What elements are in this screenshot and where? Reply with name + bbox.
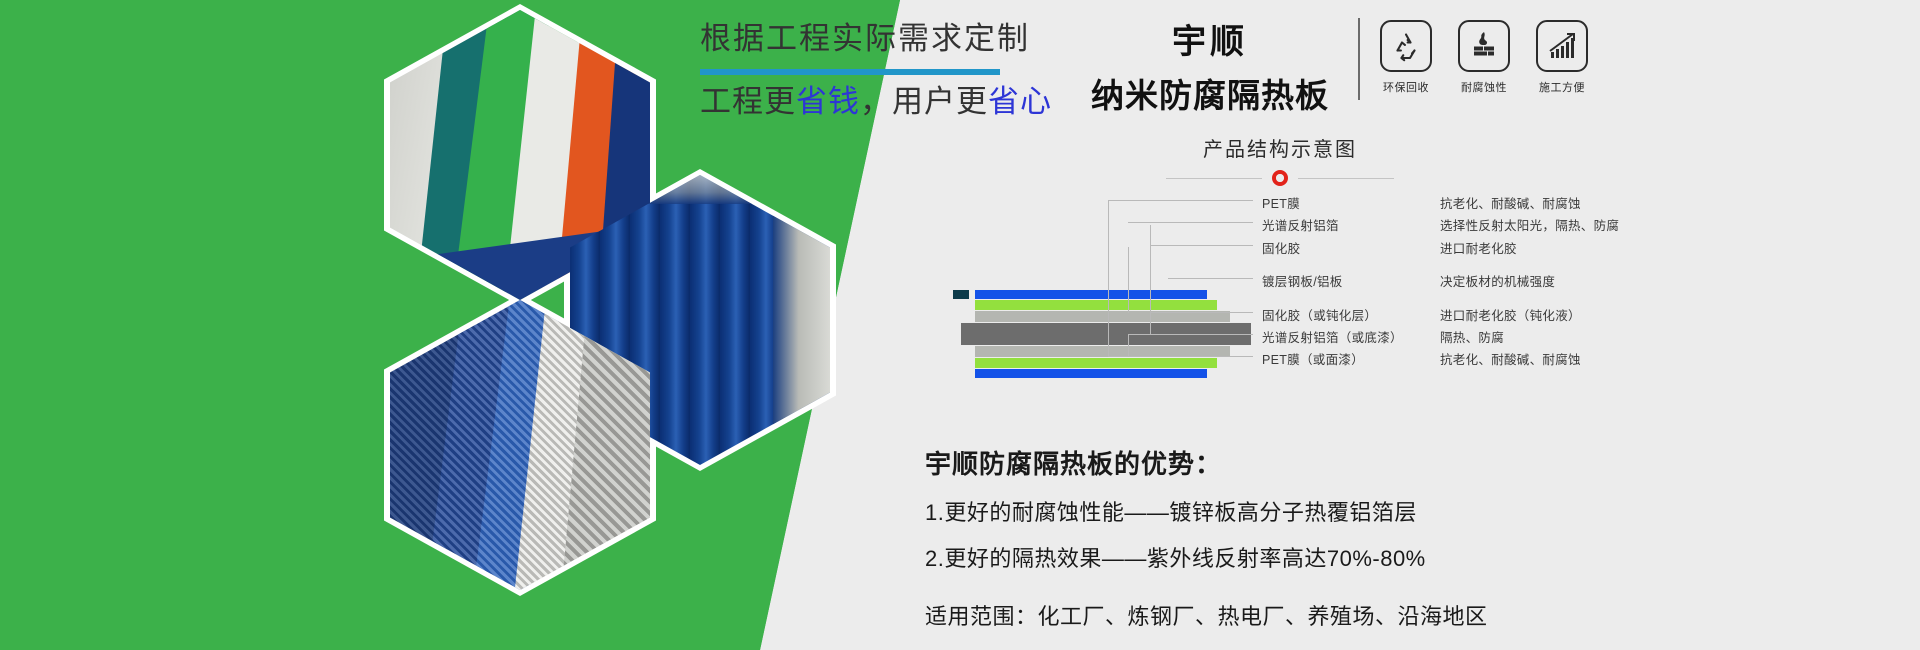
layer-desc-2: 选择性反射太阳光，隔热、防腐 [1440,215,1619,234]
headline-line-2-part-c: ，用户更 [860,84,988,119]
layer-label-4: 镀层钢板/铝板 [1262,271,1343,290]
leader-line-v3 [1108,266,1109,296]
layer-pet-bottom [975,369,1207,378]
layer-label-1: PET膜 [1262,193,1300,212]
headline-highlight-peace-of-mind: 省心 [988,84,1052,119]
badge-easy-install: 施工方便 [1536,20,1588,95]
layer-desc-6: 隔热、防腐 [1440,327,1504,346]
leader-line-v5 [1128,334,1129,356]
ornament-line-right [1298,178,1394,179]
recycle-icon [1380,20,1432,72]
leader-line-h-core [1168,278,1253,279]
layer-desc-4: 决定板材的机械强度 [1440,271,1555,290]
layer-pet-top [975,290,1207,299]
advantage-item-2: 2.更好的隔热效果——紫外线反射率高达70%-80% [925,541,1488,573]
badge-easy-install-label: 施工方便 [1536,79,1588,95]
layer-label-7: PET膜（或面漆） [1262,349,1364,368]
promo-banner: 根据工程实际需求定制 工程更省钱，用户更省心 [0,0,1920,650]
leader-line-h-glue-top [1150,245,1253,246]
layer-label-3: 固化胶 [1262,238,1300,257]
advantages-block: 宇顺防腐隔热板的优势： 1.更好的耐腐蚀性能——镀锌板高分子热覆铝箔层 2.更好… [925,444,1488,631]
stack-end-tab [953,290,969,299]
panel-layer-stack [975,290,1235,360]
leader-line-h-foil-top [1128,222,1253,223]
leader-line-v2 [1128,247,1129,313]
diagram-title-ornament [1130,168,1430,188]
badge-recycle: 环保回收 [1380,20,1432,95]
brand-divider [1358,18,1360,100]
layer-desc-5: 进口耐老化胶（钝化液） [1440,305,1581,324]
advantages-scope: 适用范围：化工厂、炼钢厂、热电厂、养殖场、沿海地区 [925,599,1488,631]
headline-line-2-part-a: 工程更 [700,84,796,119]
headline-divider [700,69,1000,75]
headline-highlight-save-money: 省钱 [796,84,860,119]
badge-recycle-label: 环保回收 [1380,79,1432,95]
leader-line-v6 [1108,296,1109,356]
growth-chart-icon [1536,20,1588,72]
brand-block: 宇顺 纳米防腐隔热板 [1070,14,1350,117]
layer-label-5: 固化胶（或钝化层） [1262,305,1377,324]
badge-corrosion: 耐腐蚀性 [1458,20,1510,95]
leader-line-h-glue-bot [1150,312,1253,313]
layer-foil-top [975,300,1217,310]
layer-desc-1: 抗老化、耐酸碱、耐腐蚀 [1440,193,1581,212]
headline-block: 根据工程实际需求定制 工程更省钱，用户更省心 [700,20,1090,122]
advantages-title-colon: ： [1195,449,1222,479]
layer-label-2: 光谱反射铝箔 [1262,215,1339,234]
leader-line-h1-v [1108,200,1109,266]
leader-line-h-pet-bot [1108,356,1253,357]
brand-name: 宇顺 [1070,14,1350,63]
layer-label-6: 光谱反射铝箔（或底漆） [1262,327,1403,346]
ornament-line-left [1166,178,1262,179]
feature-badges: 环保回收 耐腐蚀性 [1380,20,1588,95]
layer-desc-7: 抗老化、耐酸碱、耐腐蚀 [1440,349,1581,368]
diagram-title: 产品结构示意图 [1130,133,1430,162]
advantage-item-1: 1.更好的耐腐蚀性能——镀锌板高分子热覆铝箔层 [925,495,1488,527]
headline-line-2: 工程更省钱，用户更省心 [700,83,1090,122]
advantages-title-text: 宇顺防腐隔热板的优势 [925,449,1195,479]
leader-line-v4 [1150,312,1151,334]
flower-dot-icon [1272,170,1288,186]
brand-product-name: 纳米防腐隔热板 [1070,69,1350,117]
headline-line-1: 根据工程实际需求定制 [700,20,1090,59]
layer-foil-bottom [975,358,1217,368]
fire-brick-icon [1458,20,1510,72]
layer-desc-3: 进口耐老化胶 [1440,238,1517,257]
badge-corrosion-label: 耐腐蚀性 [1458,79,1510,95]
leader-line-h-foil-bot [1128,334,1253,335]
advantages-title: 宇顺防腐隔热板的优势： [925,444,1488,481]
leader-line-h-pet-top [1108,200,1253,201]
